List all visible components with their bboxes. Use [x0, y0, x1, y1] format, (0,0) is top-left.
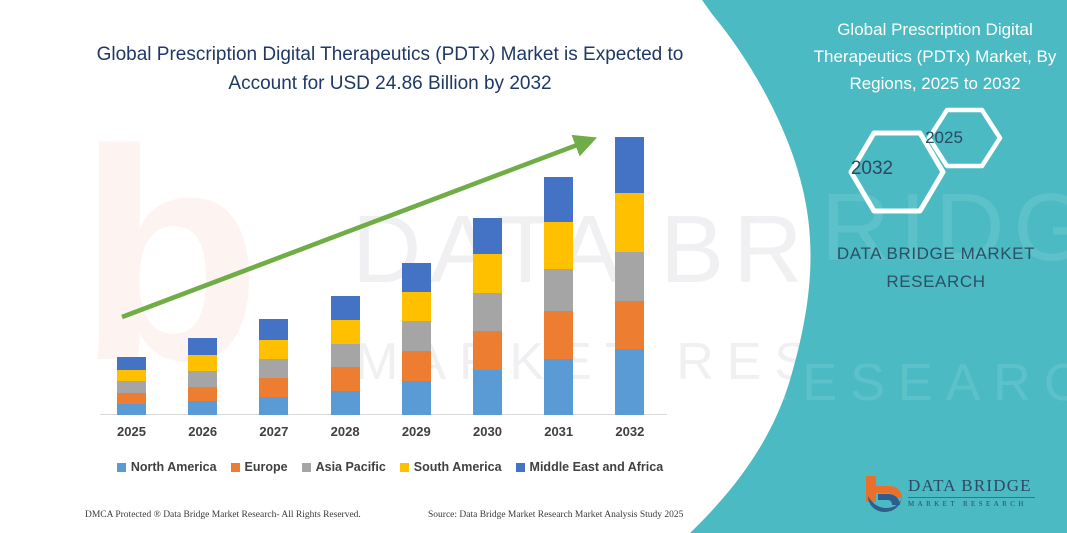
bar-segment	[615, 301, 644, 349]
bar-segment	[473, 293, 502, 331]
bar-segment	[544, 222, 573, 269]
legend-item[interactable]: Europe	[231, 460, 288, 474]
hexagon-2025-label: 2025	[904, 128, 984, 148]
legend-label: Asia Pacific	[316, 460, 386, 474]
bar-segment	[331, 367, 360, 390]
bar-segment	[473, 370, 502, 415]
bar-segment	[331, 391, 360, 415]
bar-segment	[117, 404, 146, 415]
bar-segment	[615, 193, 644, 252]
bar-segment	[615, 137, 644, 193]
legend-item[interactable]: Asia Pacific	[302, 460, 386, 474]
bar-segment	[188, 338, 217, 355]
legend-label: South America	[414, 460, 502, 474]
bar-segment	[188, 355, 217, 371]
x-axis-label-2029: 2029	[386, 424, 446, 439]
brand-logo: DATA BRIDGE MARKET RESEARCH	[862, 472, 1042, 520]
logo-divider	[908, 497, 1035, 498]
chart-plot-area	[100, 110, 670, 415]
x-axis-label-2031: 2031	[529, 424, 589, 439]
legend-item[interactable]: North America	[117, 460, 217, 474]
bar-column-2031	[544, 177, 573, 415]
bar-segment	[259, 359, 288, 378]
bar-segment	[402, 381, 431, 415]
bar-segment	[117, 393, 146, 404]
bar-segment	[117, 370, 146, 381]
bar-segment	[473, 331, 502, 371]
bar-segment	[259, 319, 288, 339]
bar-segment	[402, 263, 431, 292]
bar-segment	[544, 177, 573, 222]
bar-segment	[402, 321, 431, 350]
bar-column-2027	[259, 319, 288, 415]
stacked-bar-chart: 20252026202720282029203020312032 North A…	[0, 0, 700, 470]
bar-segment	[259, 378, 288, 396]
legend-swatch-icon	[302, 463, 311, 472]
bar-column-2026	[188, 338, 217, 415]
bar-column-2028	[331, 296, 360, 415]
bar-segment	[117, 357, 146, 370]
bar-segment	[544, 269, 573, 312]
bar-segment	[188, 387, 217, 401]
x-axis-label-2027: 2027	[244, 424, 304, 439]
legend-swatch-icon	[117, 463, 126, 472]
bar-segment	[188, 401, 217, 415]
bar-column-2032	[615, 137, 644, 415]
legend-swatch-icon	[516, 463, 525, 472]
x-axis-label-2026: 2026	[173, 424, 233, 439]
bar-segment	[402, 292, 431, 321]
x-axis-label-2030: 2030	[458, 424, 518, 439]
bar-column-2030	[473, 218, 502, 415]
panel-title: Global Prescription Digital Therapeutics…	[810, 16, 1060, 97]
bar-segment	[615, 252, 644, 301]
legend-item[interactable]: Middle East and Africa	[516, 460, 664, 474]
legend-swatch-icon	[231, 463, 240, 472]
infographic-canvas: b DATA BRIDGE MARKET RESEARCH Global Pre…	[0, 0, 1067, 533]
bar-segment	[331, 320, 360, 343]
logo-name: DATA BRIDGE	[908, 476, 1035, 496]
bar-segment	[615, 349, 644, 415]
bar-segment	[544, 359, 573, 415]
x-axis-label-2032: 2032	[600, 424, 660, 439]
bar-segment	[473, 218, 502, 255]
footer: DMCA Protected ® Data Bridge Market Rese…	[0, 506, 690, 526]
bar-segment	[117, 381, 146, 392]
bar-segment	[473, 254, 502, 293]
bar-segment	[402, 351, 431, 382]
legend-label: North America	[131, 460, 217, 474]
bar-segment	[259, 397, 288, 415]
bar-column-2025	[117, 357, 146, 415]
legend-label: Middle East and Africa	[530, 460, 664, 474]
bar-column-2029	[402, 263, 431, 415]
chart-legend: North AmericaEuropeAsia PacificSouth Ame…	[95, 460, 685, 474]
bar-segment	[259, 340, 288, 359]
logo-tagline: MARKET RESEARCH	[908, 500, 1035, 509]
bar-segment	[331, 296, 360, 320]
x-axis-label-2025: 2025	[102, 424, 162, 439]
footer-copyright: DMCA Protected ® Data Bridge Market Rese…	[85, 510, 361, 520]
db-monogram-icon	[862, 472, 906, 516]
hexagon-2032-label: 2032	[827, 158, 917, 180]
x-axis-label-2028: 2028	[315, 424, 375, 439]
legend-item[interactable]: South America	[400, 460, 502, 474]
footer-source: Source: Data Bridge Market Research Mark…	[428, 510, 683, 520]
bar-segment	[188, 371, 217, 386]
bar-segment	[544, 311, 573, 359]
bar-segment	[331, 344, 360, 367]
legend-label: Europe	[245, 460, 288, 474]
panel-brand-name: DATA BRIDGE MARKET RESEARCH	[816, 240, 1056, 296]
legend-swatch-icon	[400, 463, 409, 472]
panel-content: Global Prescription Digital Therapeutics…	[800, 0, 1067, 533]
